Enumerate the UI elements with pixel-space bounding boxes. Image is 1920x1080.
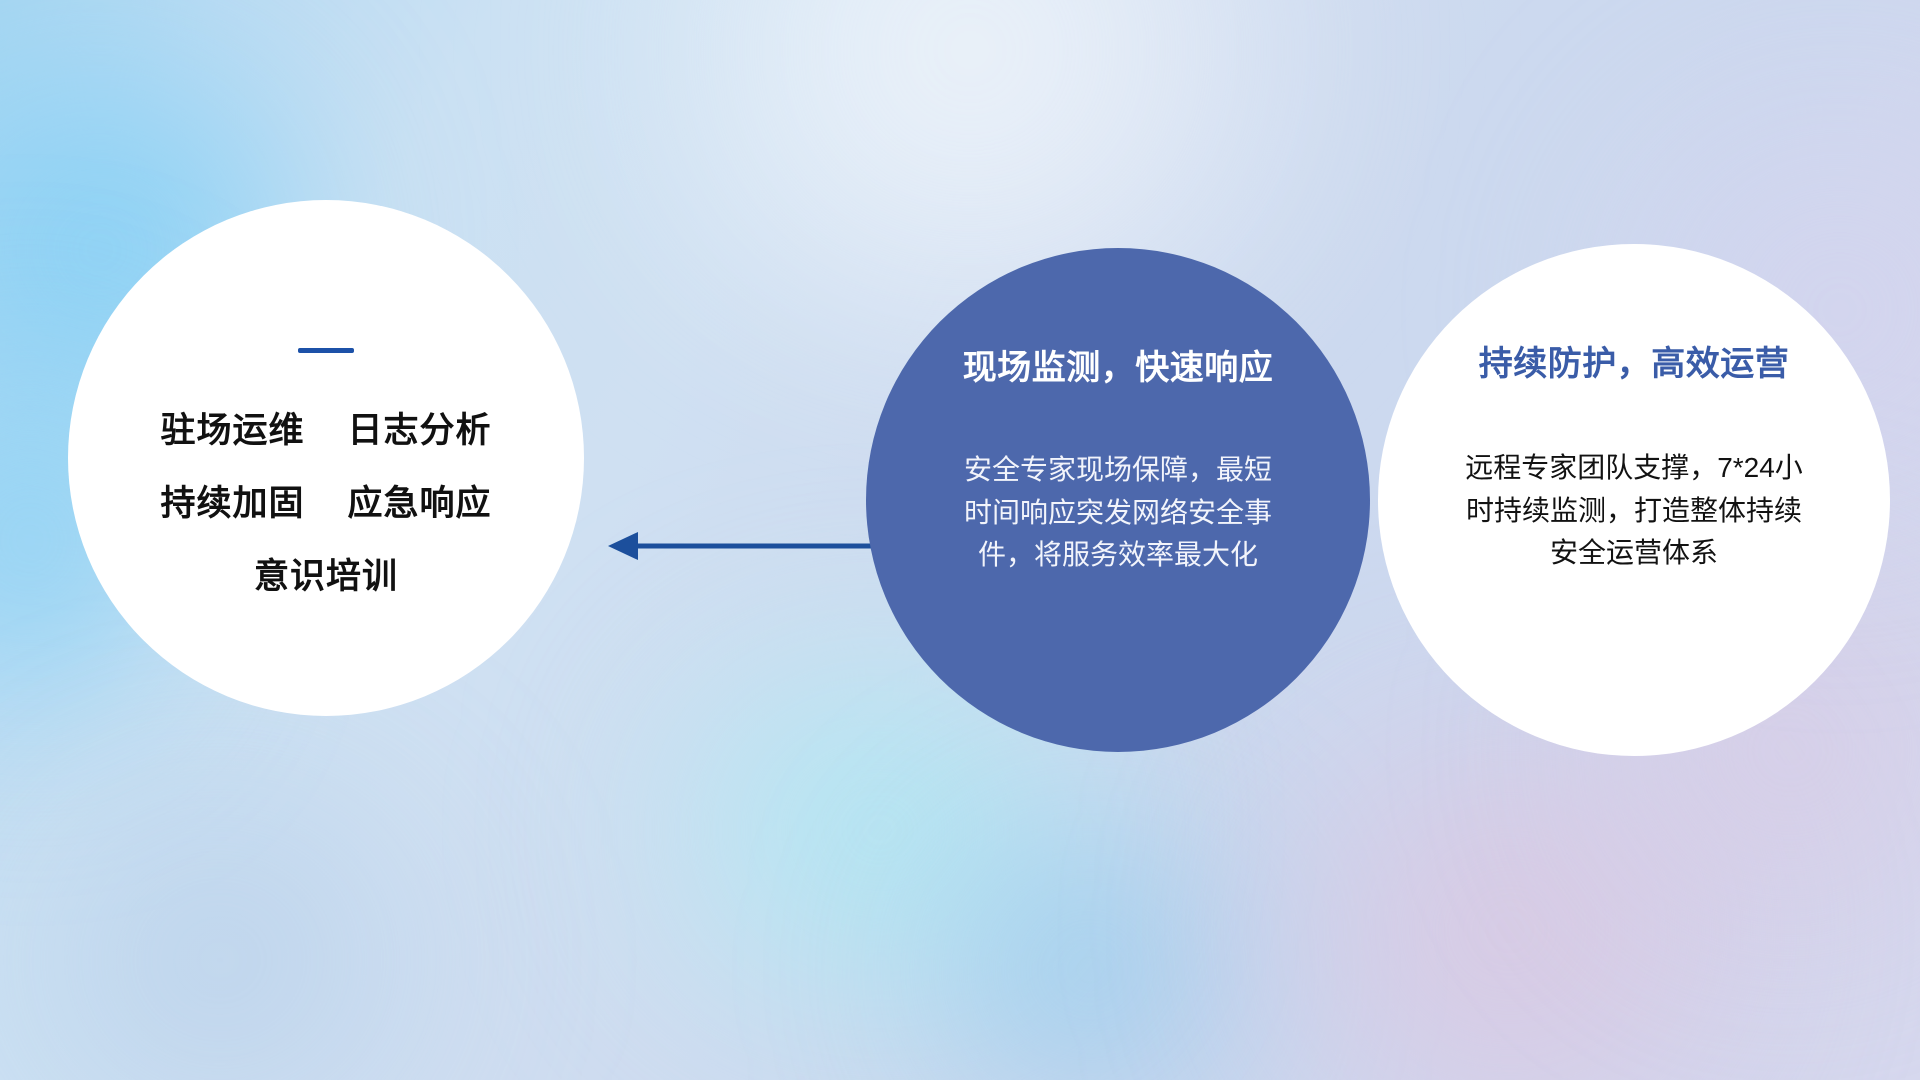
circle-onsite-monitoring-title: 现场监测，快速响应 <box>963 340 1274 389</box>
slide-canvas: 驻场运维 日志分析 持续加固 应急响应 意识培训 现场监测，快速响应 安全专家现… <box>0 0 1920 1080</box>
service-tag-line-1: 驻场运维 日志分析 <box>161 413 492 448</box>
arrow-left-icon <box>608 526 908 566</box>
service-tag-line-3: 意识培训 <box>254 559 398 594</box>
circle-onsite-monitoring-body: 安全专家现场保障，最短时间响应突发网络安全事件，将服务效率最大化 <box>953 449 1283 577</box>
accent-rule-divider <box>298 348 354 353</box>
circle-continuous-protection[interactable]: 持续防护，高效运营 远程专家团队支撑，7*24小时持续监测，打造整体持续安全运营… <box>1378 244 1890 756</box>
service-tag-line-2: 持续加固 应急响应 <box>161 486 492 521</box>
circle-onsite-monitoring[interactable]: 现场监测，快速响应 安全专家现场保障，最短时间响应突发网络安全事件，将服务效率最… <box>866 248 1370 752</box>
circle-continuous-protection-body: 远程专家团队支撑，7*24小时持续监测，打造整体持续安全运营体系 <box>1454 447 1814 575</box>
circle-continuous-protection-title: 持续防护，高效运营 <box>1479 336 1790 385</box>
circle-services[interactable]: 驻场运维 日志分析 持续加固 应急响应 意识培训 <box>68 200 584 716</box>
